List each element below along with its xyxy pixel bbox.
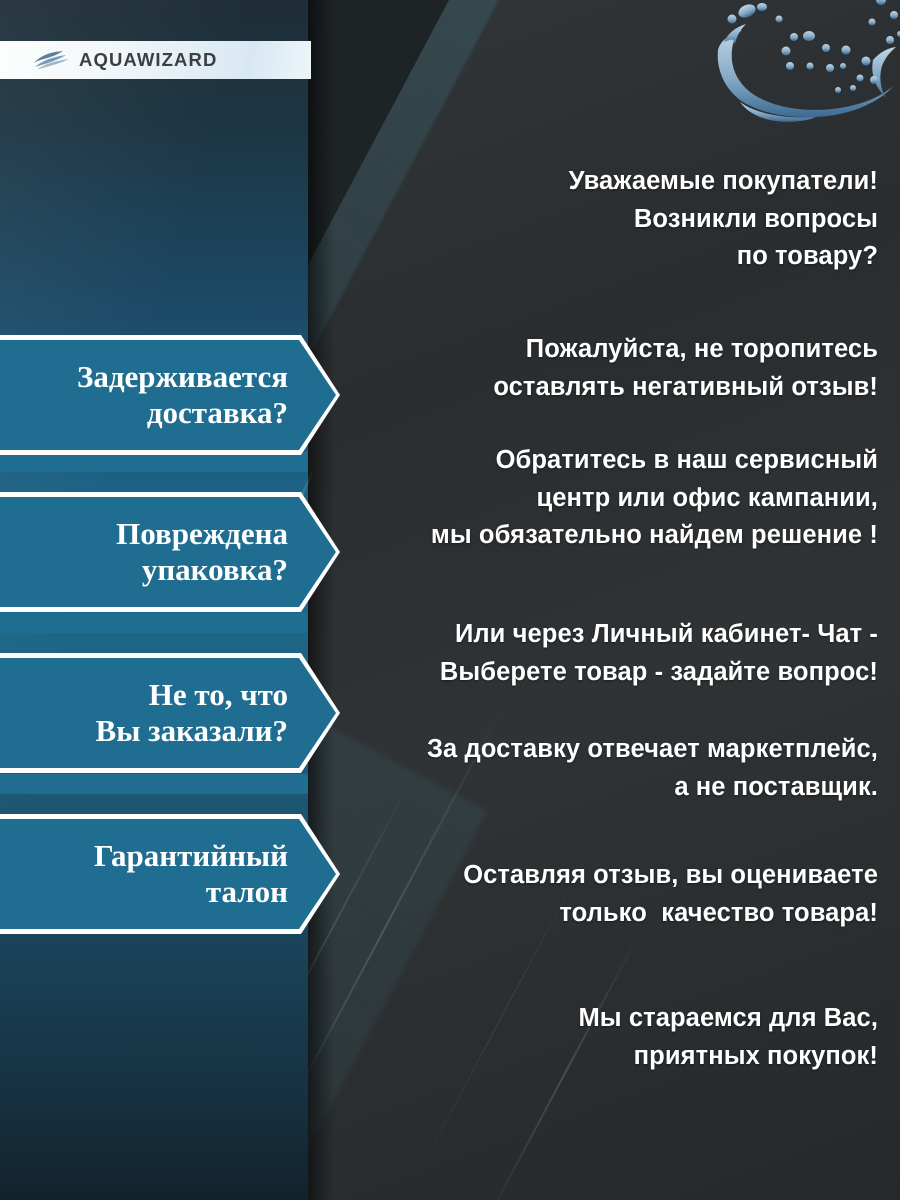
promo-card: AQUAWIZARD Задерживаетсядоставка? Повреж… [0, 0, 900, 1200]
brand-logo-bar: AQUAWIZARD [0, 41, 311, 79]
message-review: Оставляя отзыв, вы оцениваете только кач… [463, 857, 878, 932]
banner-wrong-item[interactable]: Не то, чтоВы заказали? [0, 658, 336, 768]
message-delivery: За доставку отвечает маркетплейс, а не п… [427, 731, 878, 806]
banner-warranty-card[interactable]: Гарантийныйталон [0, 819, 336, 929]
brand-logo-text: AQUAWIZARD [79, 49, 217, 71]
banner-connector [0, 452, 308, 472]
wave-icon [33, 50, 71, 70]
message-chat-path: Или через Личный кабинет- Чат - Выберете… [440, 616, 878, 691]
banner-damaged-packaging[interactable]: Поврежденаупаковка? [0, 497, 336, 607]
message-no-rush: Пожалуйста, не торопитесь оставлять нега… [493, 331, 878, 406]
banner-label: Задерживаетсядоставка? [77, 359, 288, 431]
message-column: Уважаемые покупатели! Возникли вопросы п… [330, 0, 900, 1200]
banner-delivery-delayed[interactable]: Задерживаетсядоставка? [0, 340, 336, 450]
banner-label: Гарантийныйталон [94, 838, 288, 910]
banner-connector [0, 613, 308, 633]
message-closing: Мы стараемся для Вас, приятных покупок! [578, 1000, 878, 1075]
message-contact: Обратитесь в наш сервисный центр или офи… [431, 442, 878, 555]
message-greeting: Уважаемые покупатели! Возникли вопросы п… [569, 163, 878, 276]
banner-label: Поврежденаупаковка? [116, 516, 288, 588]
banner-label: Не то, чтоВы заказали? [96, 677, 288, 749]
banner-connector [0, 774, 308, 794]
